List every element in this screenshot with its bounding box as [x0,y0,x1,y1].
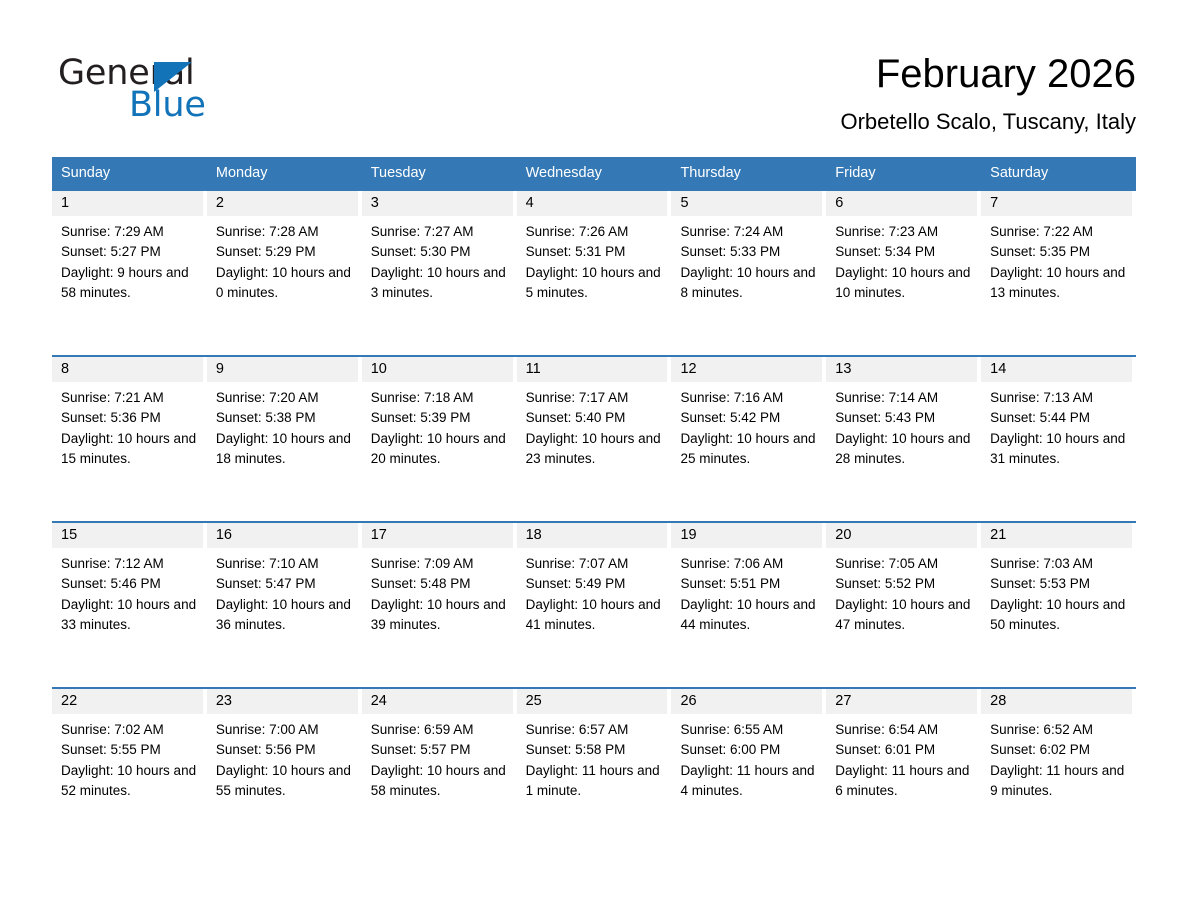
daylight-text: Daylight: 10 hours and 50 minutes. [990,595,1127,636]
day-number: 10 [371,361,387,377]
day-details: Sunrise: 6:55 AMSunset: 6:00 PMDaylight:… [671,714,826,801]
day-number: 6 [835,195,843,211]
sunrise-text: Sunrise: 7:27 AM [371,222,508,242]
day-details: Sunrise: 7:21 AMSunset: 5:36 PMDaylight:… [52,382,207,469]
day-number: 9 [216,361,224,377]
sunset-text: Sunset: 5:40 PM [526,408,663,428]
sunrise-text: Sunrise: 7:02 AM [61,720,198,740]
calendar-day-cell[interactable]: 5Sunrise: 7:24 AMSunset: 5:33 PMDaylight… [671,189,826,355]
day-number: 5 [680,195,688,211]
calendar-weeks: 1Sunrise: 7:29 AMSunset: 5:27 PMDaylight… [52,189,1136,853]
sunrise-text: Sunrise: 7:23 AM [835,222,972,242]
daylight-text: Daylight: 10 hours and 23 minutes. [526,429,663,470]
day-number: 13 [835,361,851,377]
day-number-band: 28 [981,689,1132,714]
day-number-band: 20 [826,523,977,548]
day-number: 22 [61,693,77,709]
day-details: Sunrise: 7:06 AMSunset: 5:51 PMDaylight:… [671,548,826,635]
weekday-header-row: Sunday Monday Tuesday Wednesday Thursday… [52,157,1136,189]
sunset-text: Sunset: 5:29 PM [216,242,353,262]
day-details: Sunrise: 7:22 AMSunset: 5:35 PMDaylight:… [981,216,1136,303]
sunset-text: Sunset: 5:46 PM [61,574,198,594]
calendar-day-cell[interactable]: 7Sunrise: 7:22 AMSunset: 5:35 PMDaylight… [981,189,1136,355]
sunrise-text: Sunrise: 6:59 AM [371,720,508,740]
day-number-band: 19 [671,523,822,548]
sunset-text: Sunset: 6:02 PM [990,740,1127,760]
sunrise-text: Sunrise: 7:12 AM [61,554,198,574]
calendar-day-cell[interactable]: 24Sunrise: 6:59 AMSunset: 5:57 PMDayligh… [362,687,517,853]
logo-text-blue: Blue [129,85,206,125]
daylight-text: Daylight: 10 hours and 13 minutes. [990,263,1127,304]
sunrise-text: Sunrise: 6:52 AM [990,720,1127,740]
day-details: Sunrise: 7:24 AMSunset: 5:33 PMDaylight:… [671,216,826,303]
calendar-day-cell[interactable]: 12Sunrise: 7:16 AMSunset: 5:42 PMDayligh… [671,355,826,521]
sunrise-text: Sunrise: 7:29 AM [61,222,198,242]
day-number-band: 18 [517,523,668,548]
weekday-header-saturday: Saturday [981,157,1136,189]
sunset-text: Sunset: 5:44 PM [990,408,1127,428]
calendar-day-cell[interactable]: 28Sunrise: 6:52 AMSunset: 6:02 PMDayligh… [981,687,1136,853]
day-number-band: 12 [671,357,822,382]
day-details: Sunrise: 7:29 AMSunset: 5:27 PMDaylight:… [52,216,207,303]
day-number: 4 [526,195,534,211]
sunrise-text: Sunrise: 7:17 AM [526,388,663,408]
day-details: Sunrise: 7:05 AMSunset: 5:52 PMDaylight:… [826,548,981,635]
sunset-text: Sunset: 5:43 PM [835,408,972,428]
day-details: Sunrise: 7:17 AMSunset: 5:40 PMDaylight:… [517,382,672,469]
calendar-day-cell[interactable]: 19Sunrise: 7:06 AMSunset: 5:51 PMDayligh… [671,521,826,687]
daylight-text: Daylight: 10 hours and 41 minutes. [526,595,663,636]
day-number-band: 16 [207,523,358,548]
sunset-text: Sunset: 5:38 PM [216,408,353,428]
daylight-text: Daylight: 10 hours and 44 minutes. [680,595,817,636]
sunrise-text: Sunrise: 7:18 AM [371,388,508,408]
sunset-text: Sunset: 5:56 PM [216,740,353,760]
sunset-text: Sunset: 5:36 PM [61,408,198,428]
calendar-day-cell[interactable]: 3Sunrise: 7:27 AMSunset: 5:30 PMDaylight… [362,189,517,355]
sunset-text: Sunset: 5:30 PM [371,242,508,262]
sunset-text: Sunset: 5:33 PM [680,242,817,262]
sunset-text: Sunset: 5:34 PM [835,242,972,262]
title-block: February 2026 Orbetello Scalo, Tuscany, … [840,50,1136,135]
day-details: Sunrise: 7:26 AMSunset: 5:31 PMDaylight:… [517,216,672,303]
sunrise-text: Sunrise: 7:05 AM [835,554,972,574]
day-number: 25 [526,693,542,709]
daylight-text: Daylight: 10 hours and 55 minutes. [216,761,353,802]
calendar-day-cell[interactable]: 27Sunrise: 6:54 AMSunset: 6:01 PMDayligh… [826,687,981,853]
calendar-day-cell[interactable]: 18Sunrise: 7:07 AMSunset: 5:49 PMDayligh… [517,521,672,687]
day-number: 7 [990,195,998,211]
day-details: Sunrise: 7:13 AMSunset: 5:44 PMDaylight:… [981,382,1136,469]
day-number-band: 23 [207,689,358,714]
weekday-header-friday: Friday [826,157,981,189]
day-details: Sunrise: 7:27 AMSunset: 5:30 PMDaylight:… [362,216,517,303]
sunrise-text: Sunrise: 7:03 AM [990,554,1127,574]
calendar-day-cell[interactable]: 25Sunrise: 6:57 AMSunset: 5:58 PMDayligh… [517,687,672,853]
day-number: 3 [371,195,379,211]
day-details: Sunrise: 6:59 AMSunset: 5:57 PMDaylight:… [362,714,517,801]
day-number: 11 [526,361,541,377]
day-number-band: 5 [671,191,822,216]
sunrise-text: Sunrise: 7:00 AM [216,720,353,740]
sunrise-text: Sunrise: 7:28 AM [216,222,353,242]
calendar-page: General Blue February 2026 Orbetello Sca… [0,0,1188,918]
sunrise-text: Sunrise: 7:16 AM [680,388,817,408]
weekday-header-wednesday: Wednesday [517,157,672,189]
sunrise-text: Sunrise: 7:24 AM [680,222,817,242]
daylight-text: Daylight: 10 hours and 52 minutes. [61,761,198,802]
day-number-band: 3 [362,191,513,216]
daylight-text: Daylight: 9 hours and 58 minutes. [61,263,198,304]
sunrise-text: Sunrise: 7:20 AM [216,388,353,408]
daylight-text: Daylight: 10 hours and 8 minutes. [680,263,817,304]
day-number: 24 [371,693,387,709]
calendar-day-cell[interactable]: 17Sunrise: 7:09 AMSunset: 5:48 PMDayligh… [362,521,517,687]
day-number-band: 10 [362,357,513,382]
day-number: 1 [61,195,69,211]
day-number: 18 [526,527,542,543]
page-header: General Blue February 2026 Orbetello Sca… [0,0,1188,152]
calendar-day-cell[interactable]: 23Sunrise: 7:00 AMSunset: 5:56 PMDayligh… [207,687,362,853]
day-details: Sunrise: 7:03 AMSunset: 5:53 PMDaylight:… [981,548,1136,635]
day-details: Sunrise: 7:20 AMSunset: 5:38 PMDaylight:… [207,382,362,469]
page-subtitle: Orbetello Scalo, Tuscany, Italy [840,109,1136,135]
day-number-band: 26 [671,689,822,714]
daylight-text: Daylight: 10 hours and 31 minutes. [990,429,1127,470]
daylight-text: Daylight: 10 hours and 0 minutes. [216,263,353,304]
calendar-day-cell[interactable]: 16Sunrise: 7:10 AMSunset: 5:47 PMDayligh… [207,521,362,687]
weekday-header-tuesday: Tuesday [362,157,517,189]
calendar-week-row: 15Sunrise: 7:12 AMSunset: 5:46 PMDayligh… [52,521,1136,687]
daylight-text: Daylight: 10 hours and 47 minutes. [835,595,972,636]
day-details: Sunrise: 7:00 AMSunset: 5:56 PMDaylight:… [207,714,362,801]
daylight-text: Daylight: 10 hours and 39 minutes. [371,595,508,636]
calendar-day-cell[interactable]: 13Sunrise: 7:14 AMSunset: 5:43 PMDayligh… [826,355,981,521]
day-number-band: 17 [362,523,513,548]
calendar-day-cell[interactable]: 4Sunrise: 7:26 AMSunset: 5:31 PMDaylight… [517,189,672,355]
day-number: 16 [216,527,232,543]
day-details: Sunrise: 7:12 AMSunset: 5:46 PMDaylight:… [52,548,207,635]
calendar-day-cell[interactable]: 20Sunrise: 7:05 AMSunset: 5:52 PMDayligh… [826,521,981,687]
calendar-week-row: 22Sunrise: 7:02 AMSunset: 5:55 PMDayligh… [52,687,1136,853]
day-details: Sunrise: 7:23 AMSunset: 5:34 PMDaylight:… [826,216,981,303]
sunrise-text: Sunrise: 7:07 AM [526,554,663,574]
calendar-day-cell[interactable]: 11Sunrise: 7:17 AMSunset: 5:40 PMDayligh… [517,355,672,521]
daylight-text: Daylight: 11 hours and 4 minutes. [680,761,817,802]
sunset-text: Sunset: 6:01 PM [835,740,972,760]
sunset-text: Sunset: 5:55 PM [61,740,198,760]
sunset-text: Sunset: 5:42 PM [680,408,817,428]
day-number-band: 25 [517,689,668,714]
daylight-text: Daylight: 11 hours and 6 minutes. [835,761,972,802]
sunset-text: Sunset: 5:39 PM [371,408,508,428]
daylight-text: Daylight: 10 hours and 33 minutes. [61,595,198,636]
day-number-band: 8 [52,357,203,382]
calendar-day-cell[interactable]: 8Sunrise: 7:21 AMSunset: 5:36 PMDaylight… [52,355,207,521]
daylight-text: Daylight: 10 hours and 5 minutes. [526,263,663,304]
day-number: 28 [990,693,1006,709]
daylight-text: Daylight: 10 hours and 3 minutes. [371,263,508,304]
day-details: Sunrise: 7:02 AMSunset: 5:55 PMDaylight:… [52,714,207,801]
sunrise-text: Sunrise: 6:54 AM [835,720,972,740]
calendar-day-cell[interactable]: 1Sunrise: 7:29 AMSunset: 5:27 PMDaylight… [52,189,207,355]
calendar-day-cell[interactable]: 2Sunrise: 7:28 AMSunset: 5:29 PMDaylight… [207,189,362,355]
day-details: Sunrise: 7:07 AMSunset: 5:49 PMDaylight:… [517,548,672,635]
calendar-week-row: 1Sunrise: 7:29 AMSunset: 5:27 PMDaylight… [52,189,1136,355]
day-number-band: 4 [517,191,668,216]
sunset-text: Sunset: 5:52 PM [835,574,972,594]
day-number-band: 15 [52,523,203,548]
sunrise-text: Sunrise: 7:09 AM [371,554,508,574]
calendar-day-cell[interactable]: 22Sunrise: 7:02 AMSunset: 5:55 PMDayligh… [52,687,207,853]
daylight-text: Daylight: 10 hours and 18 minutes. [216,429,353,470]
calendar-grid: Sunday Monday Tuesday Wednesday Thursday… [52,157,1136,853]
day-number-band: 27 [826,689,977,714]
day-details: Sunrise: 6:52 AMSunset: 6:02 PMDaylight:… [981,714,1136,801]
sunrise-text: Sunrise: 7:10 AM [216,554,353,574]
day-number-band: 9 [207,357,358,382]
day-number: 2 [216,195,224,211]
day-number-band: 6 [826,191,977,216]
daylight-text: Daylight: 10 hours and 25 minutes. [680,429,817,470]
day-details: Sunrise: 7:09 AMSunset: 5:48 PMDaylight:… [362,548,517,635]
daylight-text: Daylight: 10 hours and 28 minutes. [835,429,972,470]
weekday-header-thursday: Thursday [671,157,826,189]
sunrise-text: Sunrise: 6:55 AM [680,720,817,740]
calendar-day-cell[interactable]: 14Sunrise: 7:13 AMSunset: 5:44 PMDayligh… [981,355,1136,521]
daylight-text: Daylight: 10 hours and 20 minutes. [371,429,508,470]
sunset-text: Sunset: 5:57 PM [371,740,508,760]
day-number-band: 14 [981,357,1132,382]
sunset-text: Sunset: 5:51 PM [680,574,817,594]
sunset-text: Sunset: 5:31 PM [526,242,663,262]
calendar-week-row: 8Sunrise: 7:21 AMSunset: 5:36 PMDaylight… [52,355,1136,521]
sunset-text: Sunset: 5:49 PM [526,574,663,594]
day-number: 8 [61,361,69,377]
day-number: 27 [835,693,851,709]
day-details: Sunrise: 7:14 AMSunset: 5:43 PMDaylight:… [826,382,981,469]
sunrise-text: Sunrise: 7:14 AM [835,388,972,408]
day-number-band: 21 [981,523,1132,548]
calendar-day-cell[interactable]: 15Sunrise: 7:12 AMSunset: 5:46 PMDayligh… [52,521,207,687]
calendar-day-cell[interactable]: 9Sunrise: 7:20 AMSunset: 5:38 PMDaylight… [207,355,362,521]
day-number: 15 [61,527,77,543]
sunset-text: Sunset: 5:48 PM [371,574,508,594]
day-number: 12 [680,361,696,377]
day-number: 20 [835,527,851,543]
day-details: Sunrise: 7:18 AMSunset: 5:39 PMDaylight:… [362,382,517,469]
daylight-text: Daylight: 10 hours and 58 minutes. [371,761,508,802]
calendar-day-cell[interactable]: 10Sunrise: 7:18 AMSunset: 5:39 PMDayligh… [362,355,517,521]
daylight-text: Daylight: 10 hours and 15 minutes. [61,429,198,470]
sunset-text: Sunset: 5:58 PM [526,740,663,760]
weekday-header-sunday: Sunday [52,157,207,189]
day-number: 26 [680,693,696,709]
sunrise-text: Sunrise: 7:26 AM [526,222,663,242]
day-number: 23 [216,693,232,709]
sunrise-text: Sunrise: 7:22 AM [990,222,1127,242]
daylight-text: Daylight: 11 hours and 1 minute. [526,761,663,802]
day-number-band: 22 [52,689,203,714]
calendar-day-cell[interactable]: 21Sunrise: 7:03 AMSunset: 5:53 PMDayligh… [981,521,1136,687]
daylight-text: Daylight: 11 hours and 9 minutes. [990,761,1127,802]
day-details: Sunrise: 6:57 AMSunset: 5:58 PMDaylight:… [517,714,672,801]
day-number-band: 13 [826,357,977,382]
day-details: Sunrise: 7:16 AMSunset: 5:42 PMDaylight:… [671,382,826,469]
generalblue-logo[interactable]: General Blue [58,53,318,125]
daylight-text: Daylight: 10 hours and 10 minutes. [835,263,972,304]
day-details: Sunrise: 7:28 AMSunset: 5:29 PMDaylight:… [207,216,362,303]
day-details: Sunrise: 6:54 AMSunset: 6:01 PMDaylight:… [826,714,981,801]
day-number: 19 [680,527,696,543]
day-number-band: 24 [362,689,513,714]
page-title: February 2026 [840,50,1136,98]
sunset-text: Sunset: 5:47 PM [216,574,353,594]
sunset-text: Sunset: 5:53 PM [990,574,1127,594]
daylight-text: Daylight: 10 hours and 36 minutes. [216,595,353,636]
sunrise-text: Sunrise: 6:57 AM [526,720,663,740]
day-number-band: 7 [981,191,1132,216]
sunrise-text: Sunrise: 7:13 AM [990,388,1127,408]
sunset-text: Sunset: 6:00 PM [680,740,817,760]
calendar-day-cell[interactable]: 6Sunrise: 7:23 AMSunset: 5:34 PMDaylight… [826,189,981,355]
day-number-band: 11 [517,357,668,382]
day-details: Sunrise: 7:10 AMSunset: 5:47 PMDaylight:… [207,548,362,635]
day-number: 21 [990,527,1006,543]
sunset-text: Sunset: 5:35 PM [990,242,1127,262]
day-number-band: 2 [207,191,358,216]
sunrise-text: Sunrise: 7:06 AM [680,554,817,574]
sunset-text: Sunset: 5:27 PM [61,242,198,262]
weekday-header-monday: Monday [207,157,362,189]
day-number-band: 1 [52,191,203,216]
sunrise-text: Sunrise: 7:21 AM [61,388,198,408]
calendar-day-cell[interactable]: 26Sunrise: 6:55 AMSunset: 6:00 PMDayligh… [671,687,826,853]
day-number: 14 [990,361,1006,377]
day-number: 17 [371,527,387,543]
